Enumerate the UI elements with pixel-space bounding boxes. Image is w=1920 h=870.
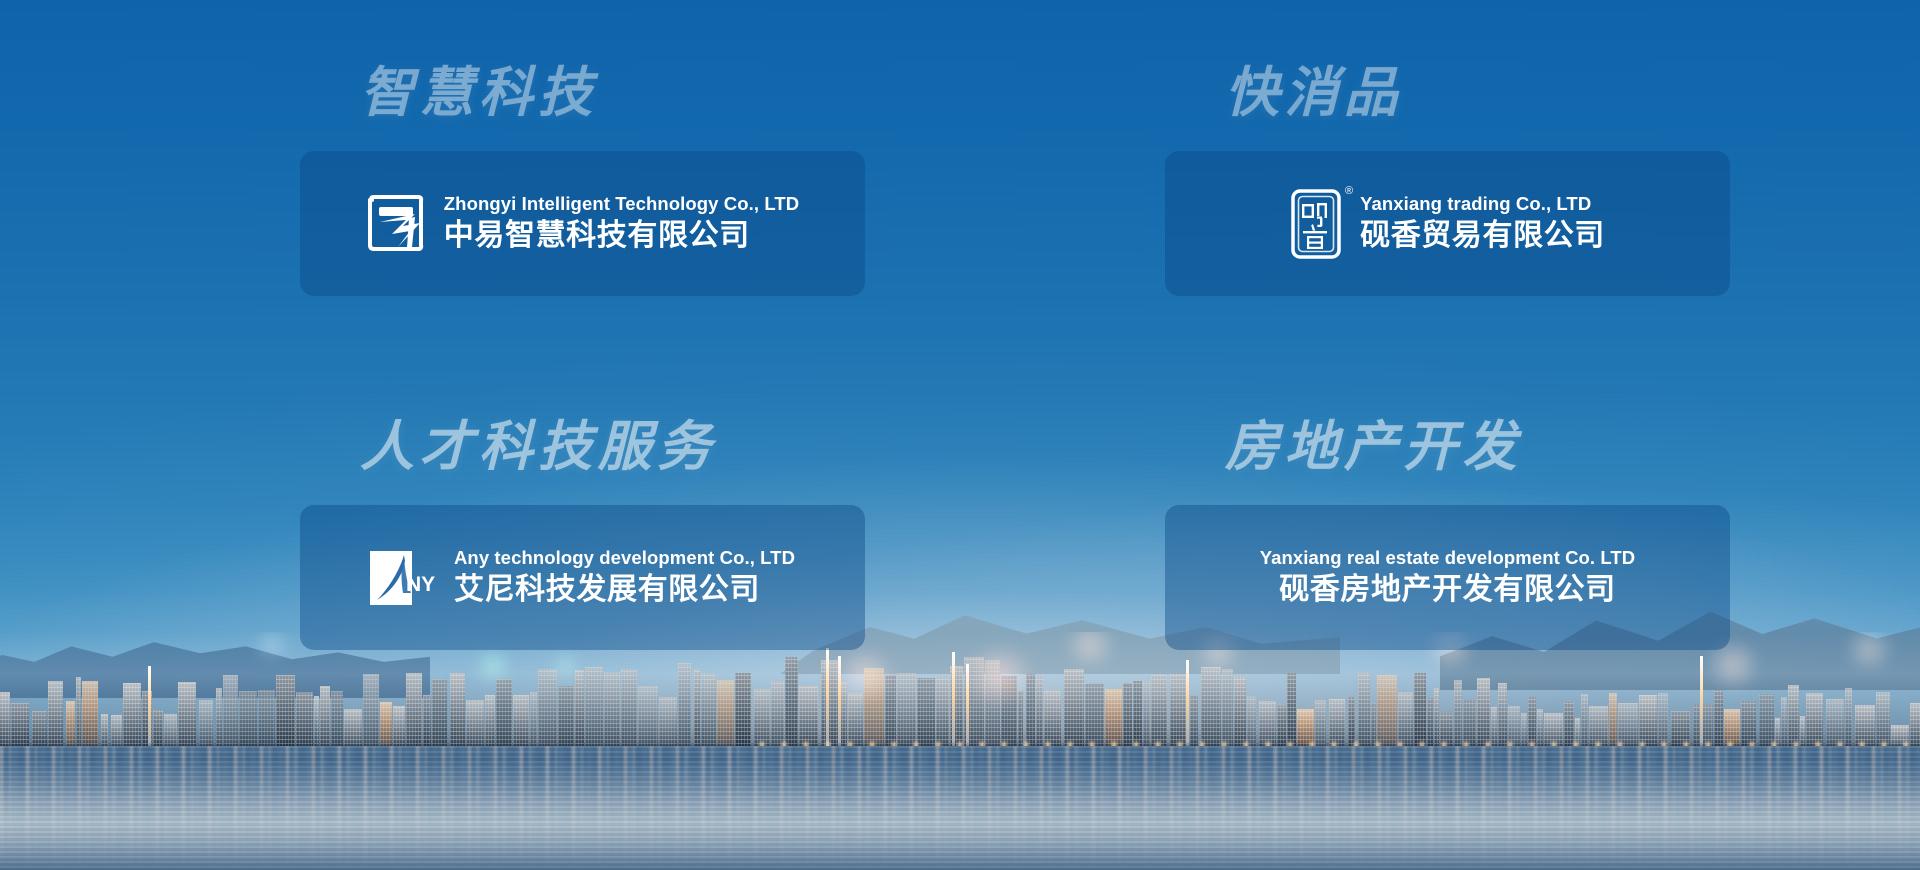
company-name-en: Zhongyi Intelligent Technology Co., LTD bbox=[444, 195, 799, 214]
company-names: Zhongyi Intelligent Technology Co., LTD … bbox=[444, 195, 799, 252]
company-name-en: Any technology development Co., LTD bbox=[454, 549, 795, 568]
company-names: Yanxiang real estate development Co. LTD… bbox=[1260, 549, 1636, 606]
company-name-en: Yanxiang trading Co., LTD bbox=[1360, 195, 1605, 214]
company-card-any[interactable]: NY Any technology development Co., LTD 艾… bbox=[300, 505, 865, 650]
company-names: Any technology development Co., LTD 艾尼科技… bbox=[454, 549, 795, 606]
segment-heading: 快消品 bbox=[1225, 64, 1730, 123]
registered-trademark-icon: ® bbox=[1345, 186, 1353, 197]
segment-fmcg: 快消品 bbox=[960, 64, 1620, 418]
company-name-cn: 砚香房地产开发有限公司 bbox=[1279, 574, 1616, 606]
segment-real-estate: 房地产开发 Yanxiang real estate development C… bbox=[960, 418, 1620, 772]
yanxiang-seal-logo: ® bbox=[1290, 188, 1342, 260]
company-card-yanxiang-trading[interactable]: ® Yanxiang trading Co., LTD 砚香贸易有限公司 bbox=[1165, 151, 1730, 296]
company-card-zhongyi[interactable]: Zhongyi Intelligent Technology Co., LTD … bbox=[300, 151, 865, 296]
company-name-cn: 中易智慧科技有限公司 bbox=[444, 220, 799, 252]
company-name-en: Yanxiang real estate development Co. LTD bbox=[1260, 549, 1636, 568]
company-card-yanxiang-realestate[interactable]: Yanxiang real estate development Co. LTD… bbox=[1165, 505, 1730, 650]
company-name-cn: 砚香贸易有限公司 bbox=[1360, 220, 1605, 252]
segment-heading: 房地产开发 bbox=[1225, 418, 1730, 477]
svg-text:NY: NY bbox=[406, 573, 435, 596]
segment-talent-tech-service: 人才科技服务 NY Any technology development Co.… bbox=[300, 418, 960, 772]
segments-grid: 智慧科技 Zhongyi Intelligent Technology Co.,… bbox=[0, 0, 1920, 870]
segment-smart-technology: 智慧科技 Zhongyi Intelligent Technology Co.,… bbox=[300, 64, 960, 418]
segment-heading: 智慧科技 bbox=[360, 64, 865, 123]
zhongyi-logo bbox=[366, 193, 426, 255]
segment-heading: 人才科技服务 bbox=[360, 418, 865, 477]
company-names: Yanxiang trading Co., LTD 砚香贸易有限公司 bbox=[1360, 195, 1605, 252]
company-name-cn: 艾尼科技发展有限公司 bbox=[454, 574, 795, 606]
any-logo: NY bbox=[370, 547, 436, 609]
